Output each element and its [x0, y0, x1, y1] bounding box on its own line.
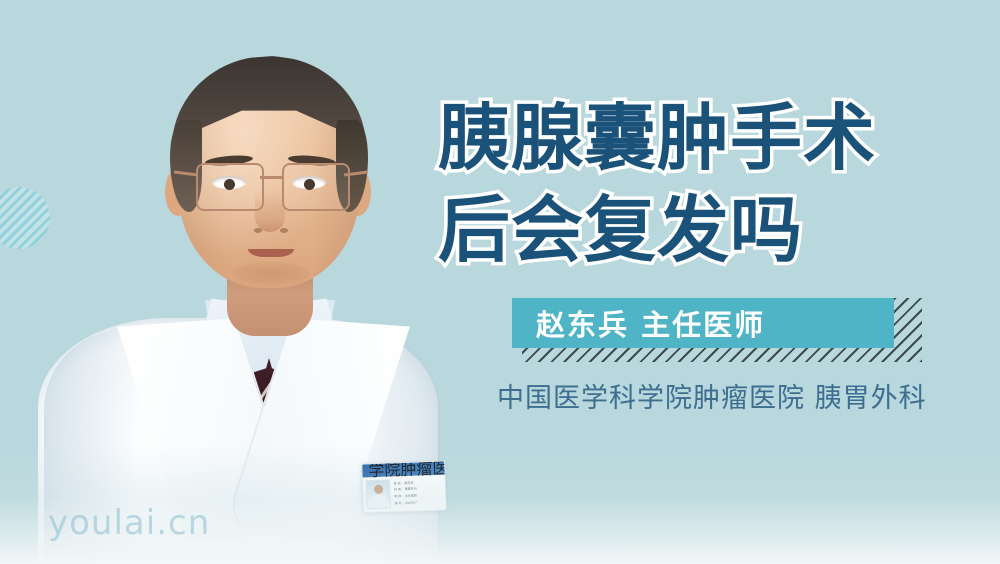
diagonal-hatch-right-icon — [890, 298, 922, 362]
nostril-right — [280, 228, 288, 233]
diagonal-hatch-bottom-icon — [522, 346, 922, 362]
doctor-name-band: 赵东兵 主任医师 — [512, 298, 894, 348]
chin-shading — [232, 262, 310, 284]
hospital-department-label: 中国医学科学院肿瘤医院 胰胃外科 — [497, 376, 927, 415]
eyeglasses-bridge — [260, 176, 282, 179]
eyeglasses-lens-left — [196, 163, 264, 211]
nose — [255, 190, 285, 232]
title-line-1: 胰腺囊肿手术 — [438, 92, 983, 184]
page-title: 胰腺囊肿手术 后会复发吗 — [438, 92, 983, 276]
doctor-name-label: 赵东兵 主任医师 — [536, 302, 765, 344]
eyeglasses-lens-right — [282, 163, 350, 211]
nostril-left — [254, 228, 262, 233]
title-line-2: 后会复发吗 — [438, 184, 983, 276]
site-watermark: youlai.cn — [48, 503, 210, 543]
video-thumbnail-card: 中国医学科学院肿瘤医院 Cancer Hospital Chinese Acad… — [0, 0, 1000, 564]
doctor-name-band-group: 赵东兵 主任医师 — [512, 298, 922, 364]
